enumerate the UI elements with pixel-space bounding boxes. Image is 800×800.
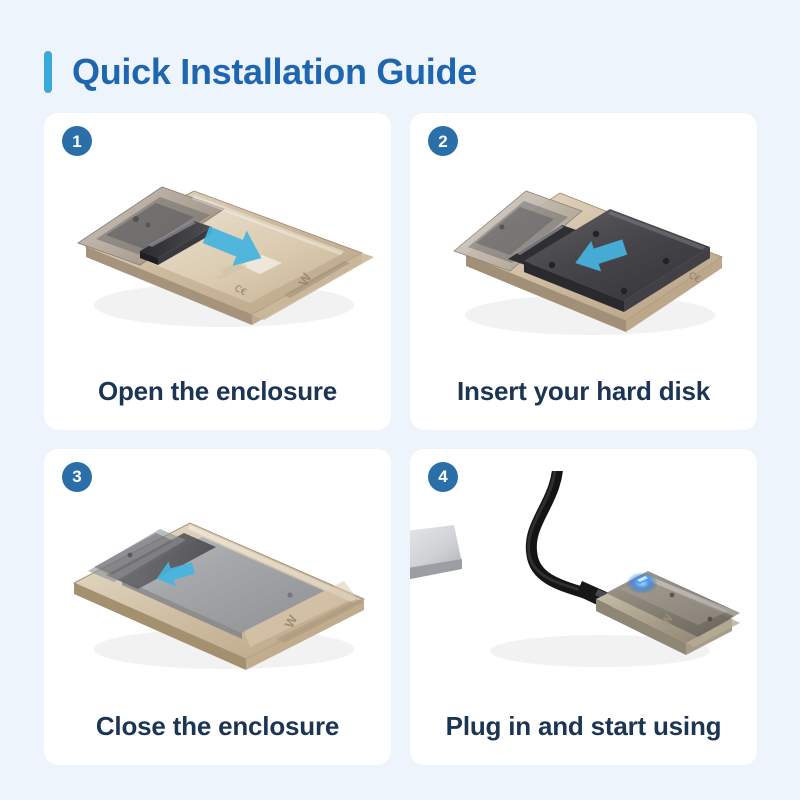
- step-caption-2: Insert your hard disk: [410, 377, 757, 406]
- step-number-badge-1: 1: [62, 126, 92, 156]
- status-led: [626, 572, 658, 594]
- step-photo-4: W: [410, 471, 757, 689]
- usb-cable: [531, 471, 596, 597]
- quick-installation-guide-page: Quick Installation Guide 1: [0, 0, 800, 800]
- step-photo-2: C€: [410, 135, 757, 353]
- laptop-edge: [410, 525, 462, 583]
- step-card-4[interactable]: 4: [410, 449, 757, 766]
- title-accent-bar: [44, 51, 52, 93]
- page-header: Quick Installation Guide: [0, 0, 800, 100]
- steps-grid: 1: [44, 113, 757, 765]
- step-number-badge-2: 2: [428, 126, 458, 156]
- step-number-badge-4: 4: [428, 462, 458, 492]
- step-card-2[interactable]: 2: [410, 113, 757, 430]
- step-caption-4: Plug in and start using: [410, 712, 757, 741]
- step-card-1[interactable]: 1: [44, 113, 391, 430]
- step-photo-1: C€: [44, 135, 391, 353]
- page-title: Quick Installation Guide: [72, 54, 477, 90]
- step-card-3[interactable]: 3: [44, 449, 391, 766]
- step-number-badge-3: 3: [62, 462, 92, 492]
- step-caption-3: Close the enclosure: [44, 712, 391, 741]
- step-caption-1: Open the enclosure: [44, 377, 391, 406]
- step-photo-3: W: [44, 471, 391, 689]
